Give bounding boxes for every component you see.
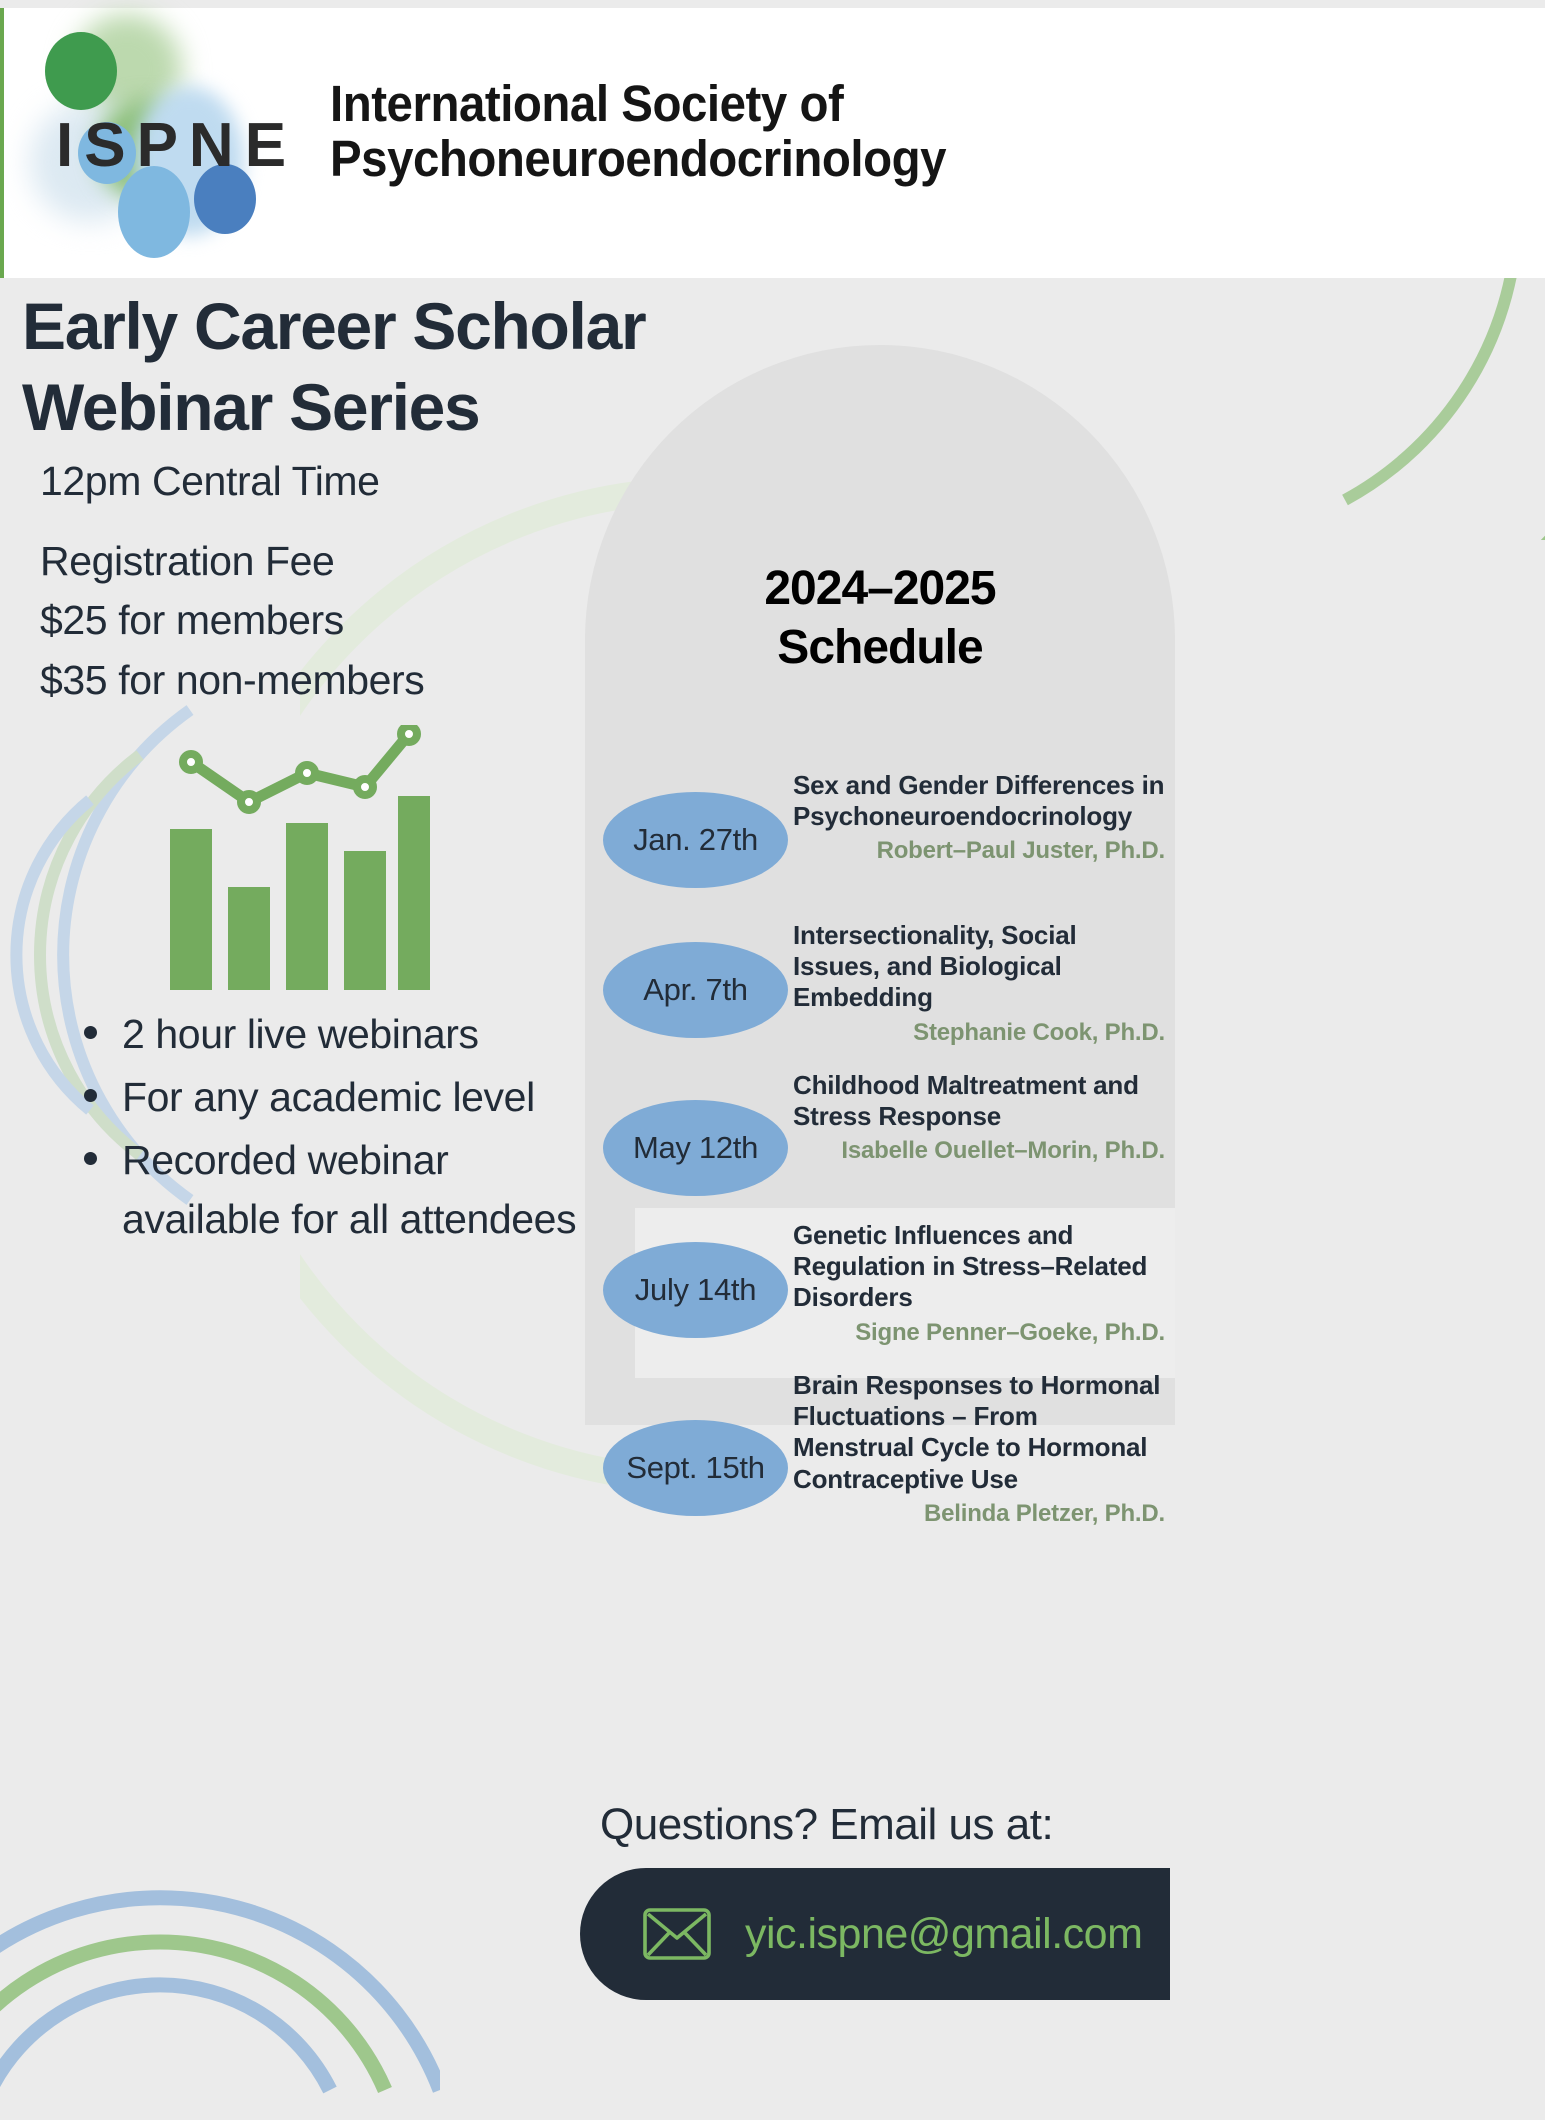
logo-acronym: ISPNE — [56, 110, 297, 181]
schedule-date-badge: Sept. 15th — [603, 1420, 788, 1516]
schedule-speaker: Stephanie Cook, Ph.D. — [793, 1019, 1165, 1047]
questions-label: Questions? Email us at: — [600, 1800, 1180, 1850]
schedule-topic: Childhood Maltreatment and Stress Respon… — [793, 1070, 1165, 1132]
features-list: 2 hour live webinars For any academic le… — [76, 1005, 596, 1253]
chart-bar — [170, 829, 212, 990]
page-title-line2: Webinar Series — [22, 367, 842, 448]
list-item: Recorded webinar available for all atten… — [76, 1131, 596, 1249]
schedule-date-badge: May 12th — [603, 1100, 788, 1196]
chart-bar — [228, 887, 270, 990]
schedule-date-badge: Jan. 27th — [603, 792, 788, 888]
registration-fee-block: Registration Fee $25 for members $35 for… — [40, 532, 620, 710]
schedule-title-line2: Schedule — [585, 619, 1175, 678]
schedule-topic: Genetic Influences and Regulation in Str… — [793, 1220, 1165, 1314]
chart-bar — [286, 823, 328, 990]
chart-bars — [170, 796, 430, 990]
schedule-topic: Intersectionality, Social Issues, and Bi… — [793, 920, 1165, 1014]
chart-marker — [183, 754, 199, 770]
chart-bar — [398, 796, 430, 990]
chart-marker — [401, 726, 417, 742]
ispne-molecule-logo: ISPNE — [30, 14, 320, 264]
schedule-row-text: Intersectionality, Social Issues, and Bi… — [793, 920, 1165, 1047]
chart-marker — [357, 779, 373, 795]
chart-marker — [299, 765, 315, 781]
schedule-title-line1: 2024–2025 — [585, 560, 1175, 619]
list-item: For any academic level — [76, 1068, 596, 1127]
page-title-line1: Early Career Scholar — [22, 286, 842, 367]
fee-label: Registration Fee — [40, 532, 620, 591]
schedule-title: 2024–2025 Schedule — [585, 560, 1175, 677]
fee-member: $25 for members — [40, 591, 620, 650]
header-left-accent — [0, 8, 4, 278]
schedule-speaker: Belinda Pletzer, Ph.D. — [793, 1500, 1165, 1528]
brand-name: International Society of Psychoneuroendo… — [330, 76, 925, 186]
growth-chart-graphic — [160, 725, 430, 990]
header-top-divider — [0, 0, 1545, 8]
schedule-row-text: Brain Responses to Hormonal Fluctuations… — [793, 1370, 1165, 1528]
chart-marker — [241, 794, 257, 810]
schedule-row-text: Childhood Maltreatment and Stress Respon… — [793, 1070, 1165, 1165]
page-title: Early Career Scholar Webinar Series — [22, 286, 842, 447]
schedule-row-text: Genetic Influences and Regulation in Str… — [793, 1220, 1165, 1347]
decorative-arc-bottom-left — [0, 1690, 440, 2120]
header-band: ISPNE International Society of Psychoneu… — [0, 0, 1545, 278]
webinar-time: 12pm Central Time — [40, 458, 600, 505]
envelope-icon — [642, 1907, 712, 1961]
email-contact-pill[interactable]: yic.ispne@gmail.com — [580, 1868, 1170, 2000]
schedule-speaker: Robert–Paul Juster, Ph.D. — [793, 837, 1165, 865]
email-address[interactable]: yic.ispne@gmail.com — [745, 1910, 1142, 1959]
schedule-topic: Brain Responses to Hormonal Fluctuations… — [793, 1370, 1165, 1495]
brand-name-line2: Psychoneuroendocrinology — [330, 131, 925, 186]
schedule-row-text: Sex and Gender Differences in Psychoneur… — [793, 770, 1165, 865]
schedule-topic: Sex and Gender Differences in Psychoneur… — [793, 770, 1165, 832]
brand-name-line1: International Society of — [330, 76, 925, 131]
schedule-date-badge: Apr. 7th — [603, 942, 788, 1038]
schedule-speaker: Isabelle Ouellet–Morin, Ph.D. — [793, 1137, 1165, 1165]
fee-nonmember: $35 for non-members — [40, 651, 620, 710]
list-item: 2 hour live webinars — [76, 1005, 596, 1064]
schedule-speaker: Signe Penner–Goeke, Ph.D. — [793, 1319, 1165, 1347]
chart-bar — [344, 851, 386, 990]
schedule-date-badge: July 14th — [603, 1242, 788, 1338]
